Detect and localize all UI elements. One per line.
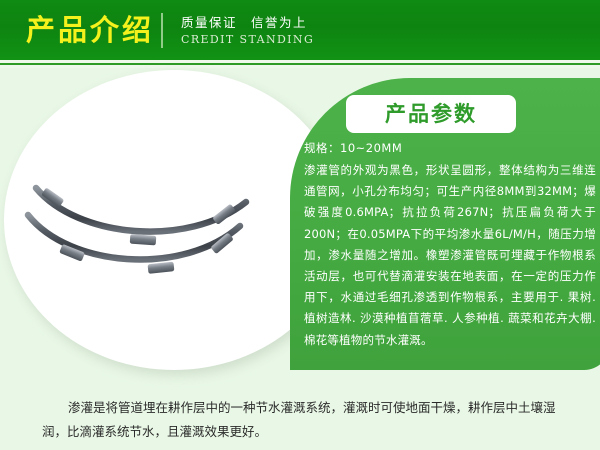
seep-pipe-illustration <box>8 160 278 280</box>
header-rule-gap <box>0 65 600 68</box>
product-parameter-panel: 产品参数 规格：10~20MM 渗灌管的外观为黑色，形状呈圆形，整体结构为三维连… <box>290 78 600 370</box>
pipe-upper-connector-mid <box>130 234 157 245</box>
pipe-upper <box>36 188 246 232</box>
product-photo <box>8 160 278 280</box>
header-divider <box>161 13 163 48</box>
header-subtitle-en: CREDIT STANDING <box>181 33 314 47</box>
page-header: 产品介绍 质量保证 信誉为上 CREDIT STANDING <box>0 0 600 60</box>
product-introduction-page: 产品介绍 质量保证 信誉为上 CREDIT STANDING <box>0 0 600 450</box>
header-subtitle-cn: 质量保证 信誉为上 <box>181 15 307 31</box>
page-title: 产品介绍 <box>26 11 154 49</box>
param-body-text: 渗灌管的外观为黑色，形状呈圆形，整体结构为三维连通管网，小孔分布均匀；可生产内径… <box>304 160 596 351</box>
pipe-lower-connector-mid <box>148 262 175 274</box>
param-title-box: 产品参数 <box>346 95 516 133</box>
param-title: 产品参数 <box>346 95 516 133</box>
param-spec-line: 规格：10~20MM <box>304 140 402 157</box>
bottom-description: 渗灌是将管道埋在耕作层中的一种节水灌溉系统，灌溉时可使地面干燥，耕作层中土壤湿润… <box>42 396 560 444</box>
